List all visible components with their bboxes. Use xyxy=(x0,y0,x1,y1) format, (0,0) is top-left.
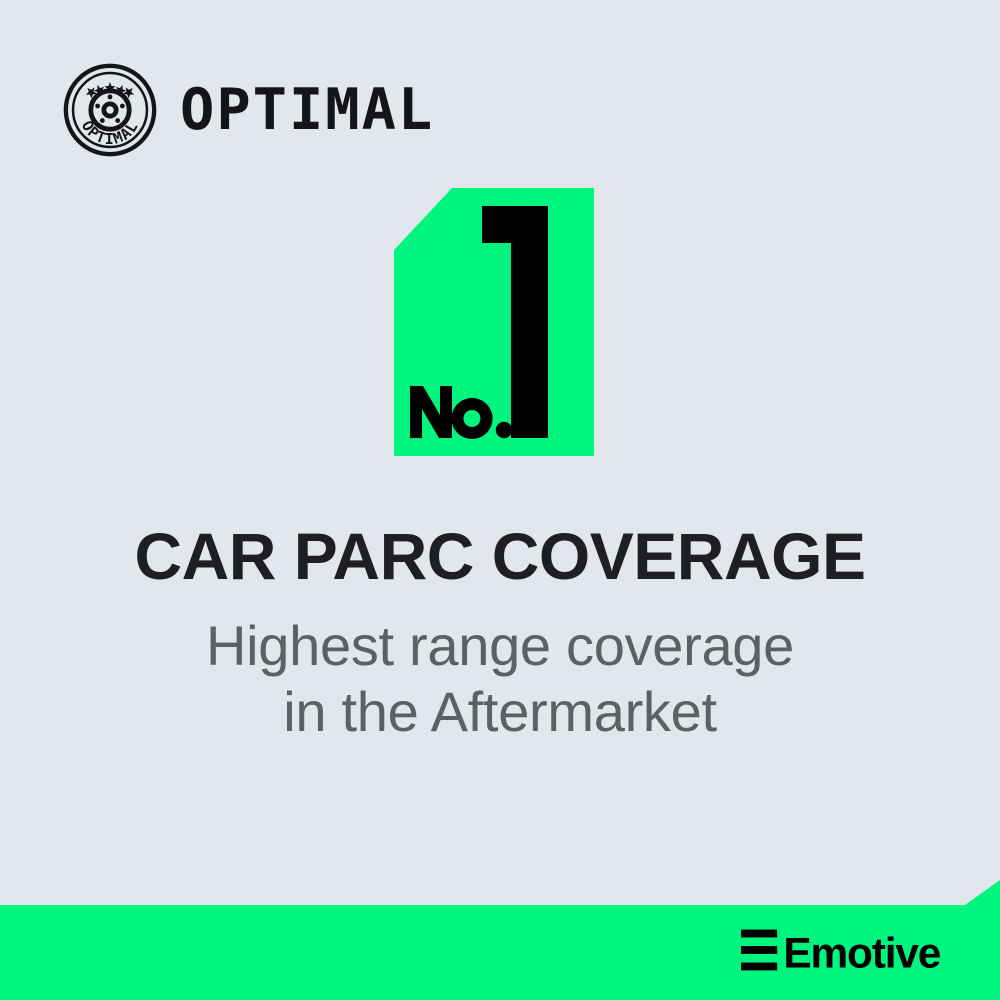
svg-text:OPTIMAL: OPTIMAL xyxy=(78,117,142,148)
seal-curved-text: OPTIMAL xyxy=(78,117,142,148)
footer-band: Emotive xyxy=(0,855,1000,1000)
optimal-circular-seal-icon: OPTIMAL xyxy=(62,62,158,158)
message-block: CAR PARC COVERAGE Highest range coverage… xyxy=(0,522,1000,745)
subtitle-line-1: Highest range coverage xyxy=(0,613,1000,679)
brand-wordmark: OPTIMAL xyxy=(180,82,434,139)
rank-badge xyxy=(394,188,594,456)
subtitle-line-2: in the Aftermarket xyxy=(0,679,1000,745)
page-title: CAR PARC COVERAGE xyxy=(0,522,1000,591)
poster-canvas: OPTIMAL OPTIMAL CAR PARC COVERAGE xyxy=(0,0,1000,1000)
emotive-wordmark-icon: Emotive xyxy=(741,928,952,972)
brand-header: OPTIMAL OPTIMAL xyxy=(62,62,434,158)
subtitle: Highest range coverage in the Aftermarke… xyxy=(0,613,1000,745)
emotive-wordmark-text: Emotive xyxy=(784,929,941,972)
rank-badge-shape xyxy=(394,188,594,456)
